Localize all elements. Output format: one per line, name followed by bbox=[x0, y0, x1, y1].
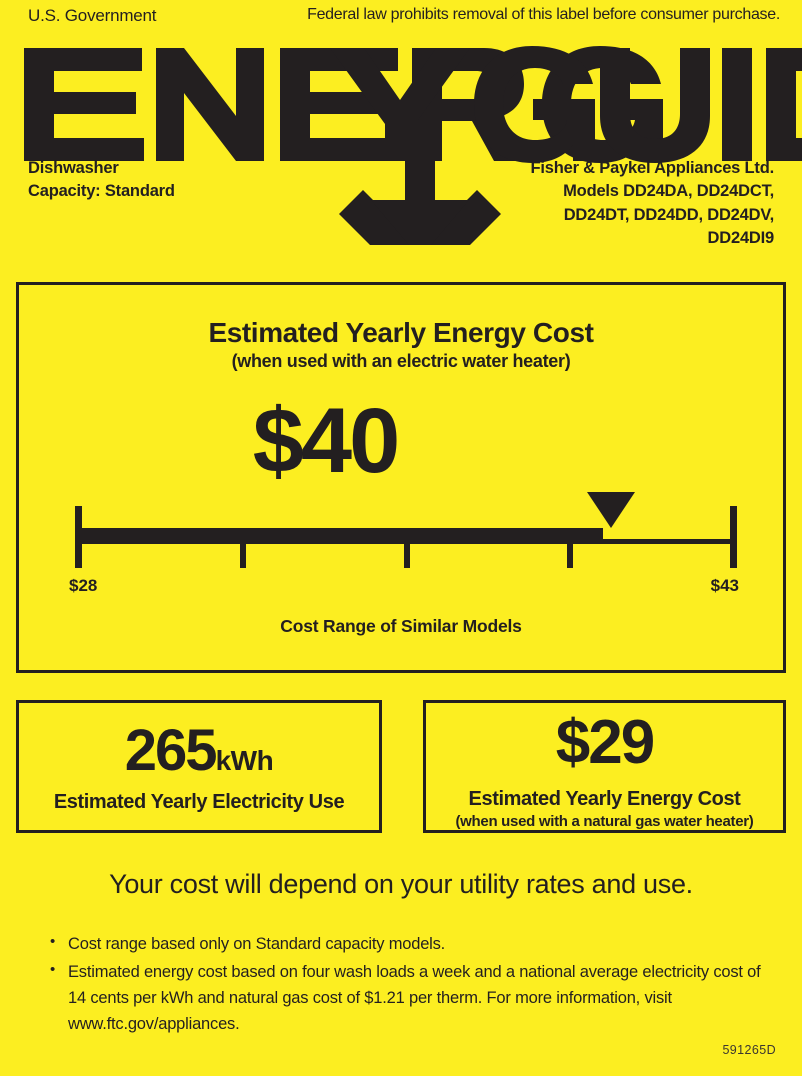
footnote-item: Cost range based only on Standard capaci… bbox=[68, 931, 766, 957]
electricity-value: 265 bbox=[125, 718, 216, 783]
gas-cost-value: $29 bbox=[426, 709, 783, 777]
estimated-yearly-electricity-use-box: 265kWh Estimated Yearly Electricity Use bbox=[16, 700, 382, 833]
gas-cost-subcaption: (when used with a natural gas water heat… bbox=[426, 813, 783, 830]
manufacturer-name: Fisher & Paykel Appliances Ltd. bbox=[530, 157, 774, 180]
scale-min-label: $28 bbox=[69, 576, 97, 596]
label-code: 591265D bbox=[722, 1043, 776, 1057]
gas-cost-caption: Estimated Yearly Energy Cost bbox=[426, 788, 783, 811]
cost-tagline: Your cost will depend on your utility ra… bbox=[0, 869, 802, 900]
energyguide-label: U.S. Government Federal law prohibits re… bbox=[0, 0, 802, 1076]
us-government-label: U.S. Government bbox=[28, 6, 156, 26]
product-type: Dishwasher bbox=[28, 157, 175, 180]
energyguide-wordmark bbox=[0, 40, 802, 150]
electricity-value-row: 265kWh bbox=[19, 717, 379, 784]
footnote-item: Estimated energy cost based on four wash… bbox=[68, 959, 766, 1037]
product-description: Dishwasher Capacity: Standard bbox=[28, 157, 175, 204]
estimated-cost-amount: $40 bbox=[19, 395, 631, 487]
models-line-1: Models DD24DA, DD24DCT, bbox=[530, 180, 774, 203]
estimated-yearly-energy-cost-panel: Estimated Yearly Energy Cost (when used … bbox=[16, 282, 786, 673]
electricity-caption: Estimated Yearly Electricity Use bbox=[19, 791, 379, 814]
cost-marker-triangle bbox=[587, 492, 635, 528]
scale-caption: Cost Range of Similar Models bbox=[19, 616, 783, 637]
models-line-2: DD24DT, DD24DD, DD24DV, bbox=[530, 204, 774, 227]
panel-subtitle: (when used with an electric water heater… bbox=[19, 351, 783, 372]
models-line-3: DD24DI9 bbox=[530, 227, 774, 250]
estimated-yearly-gas-cost-box: $29 Estimated Yearly Energy Cost (when u… bbox=[423, 700, 786, 833]
panel-title: Estimated Yearly Energy Cost bbox=[19, 317, 783, 349]
federal-law-notice: Federal law prohibits removal of this la… bbox=[307, 6, 780, 24]
manufacturer-and-models: Fisher & Paykel Appliances Ltd. Models D… bbox=[530, 157, 774, 251]
product-capacity: Capacity: Standard bbox=[28, 180, 175, 203]
footnotes: Cost range based only on Standard capaci… bbox=[46, 931, 766, 1039]
electricity-unit: kWh bbox=[216, 745, 274, 776]
scale-max-label: $43 bbox=[711, 576, 739, 596]
